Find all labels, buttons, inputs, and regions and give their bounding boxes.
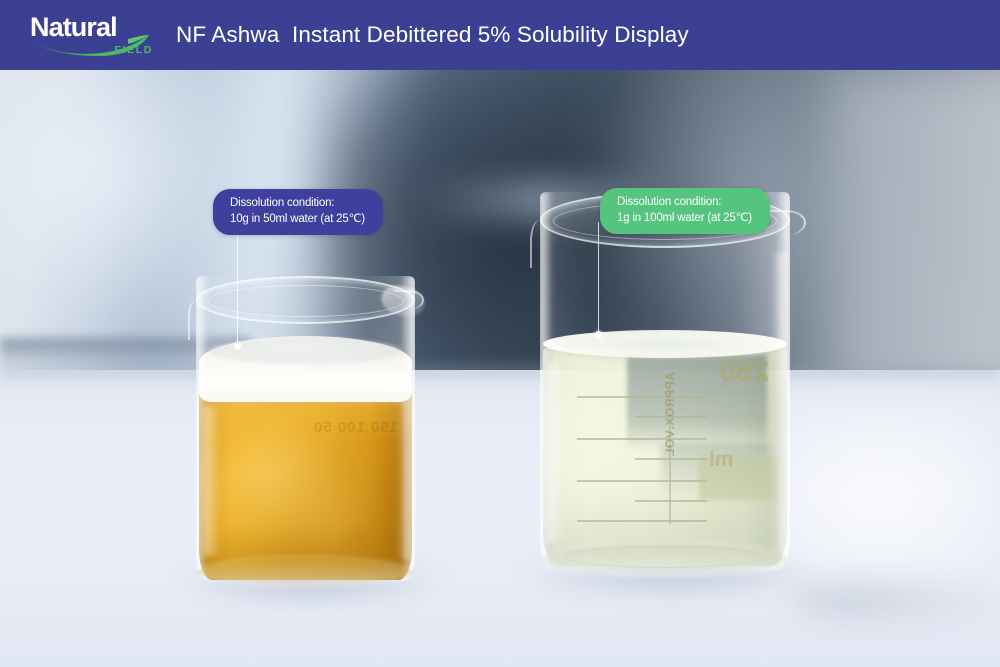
solubility-display-slide: Natural FIELD NF Ashwa Instant Debittere… [0,0,1000,667]
brand-subtext: FIELD [115,44,153,56]
left-badge-line-1: Dissolution condition: [230,195,365,211]
right-dissolution-condition-badge: Dissolution condition: 1g in 100ml water… [600,188,770,234]
left-beaker-highlight-right [396,400,410,560]
graduation-line [577,480,707,482]
left-beaker-neck-left [188,300,208,340]
right-beaker-liquid: APPROX.VOL 250 ml [543,348,787,566]
left-beaker: 150 100 50 [196,276,415,582]
left-dissolution-condition-badge: Dissolution condition: 10g in 50ml water… [213,189,383,235]
right-beaker-graduation-unit: ml [709,448,734,472]
right-beaker-graduation-number: 250 [719,356,769,388]
left-callout-leader-line [237,222,238,347]
right-callout-leader-dot [595,331,602,338]
brand-logo: Natural FIELD [30,11,152,59]
left-beaker-base [198,558,413,586]
right-badge-line-1: Dissolution condition: [617,194,752,210]
right-beaker-glass: APPROX.VOL 250 ml [540,192,790,570]
background-blur-far-right [830,70,1000,400]
graduation-line [635,458,707,460]
left-badge-line-2: 10g in 50ml water (at 25℃) [230,211,365,227]
graduation-line [577,396,707,398]
right-beaker-highlight-right [770,252,786,552]
right-beaker: APPROX.VOL 250 ml [540,192,790,570]
left-callout-leader-dot [234,342,241,349]
page-title: NF Ashwa Instant Debittered 5% Solubilit… [176,22,689,48]
graduation-line [635,500,707,502]
left-beaker-liquid: 150 100 50 [199,392,412,580]
right-beaker-graduation-label: APPROX.VOL [663,372,677,457]
right-beaker-base-ring [566,546,764,568]
header-bar: Natural FIELD NF Ashwa Instant Debittere… [0,0,1000,70]
graduation-line [577,520,707,522]
right-callout-leader-line [598,222,599,336]
right-foam-surface [556,336,774,354]
left-beaker-foam [199,336,412,402]
right-beaker-neck-left [530,220,552,268]
table-edge-shade [0,366,1000,382]
right-badge-line-2: 1g in 100ml water (at 25℃) [617,210,752,226]
left-beaker-graduation-text: 150 100 50 [313,418,398,438]
graduation-line [577,438,707,440]
left-beaker-highlight-left [204,406,220,556]
right-beaker-highlight-left [548,362,564,542]
table-soft-shadow [790,570,1000,630]
photo-scene: 150 100 50 [0,70,1000,667]
